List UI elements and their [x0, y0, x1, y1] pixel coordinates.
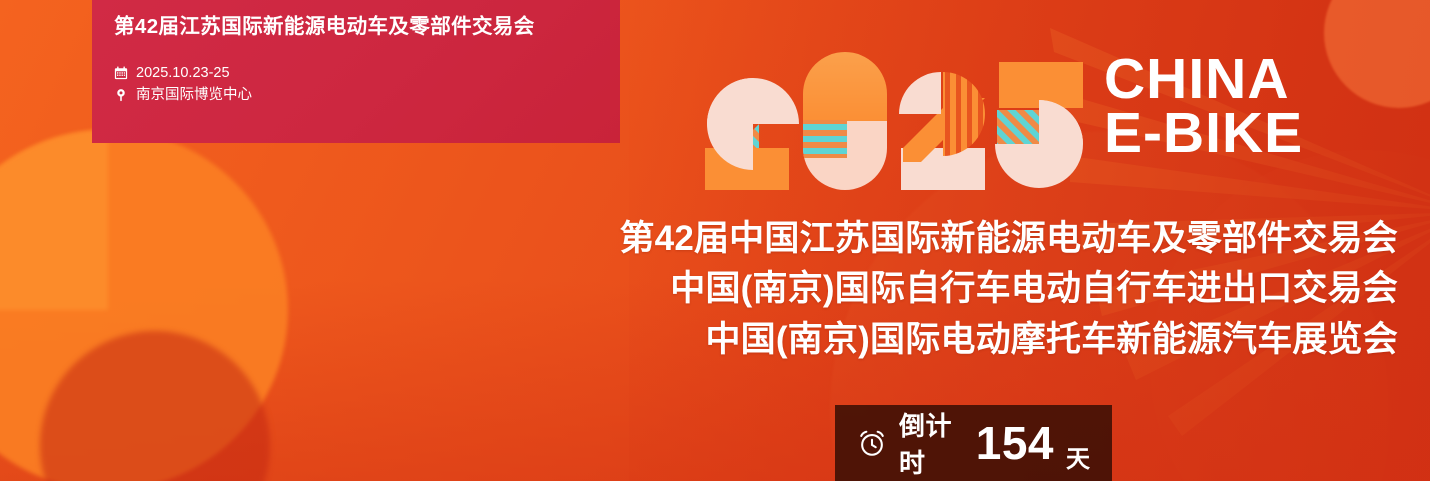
- event-card-title: 第42届江苏国际新能源电动车及零部件交易会: [114, 14, 598, 40]
- event-info-card: 第42届江苏国际新能源电动车及零部件交易会: [92, 0, 620, 143]
- countdown-badge: 倒计时 154 天: [835, 405, 1112, 481]
- headline-line-1: 第42届中国江苏国际新能源电动车及零部件交易会: [619, 214, 1398, 264]
- brand-line-1: CHINA: [1104, 52, 1303, 106]
- event-date-row: 2025.10.23-25: [114, 62, 598, 84]
- countdown-label: 倒计时: [899, 406, 964, 480]
- brand-line-2: E-BIKE: [1104, 106, 1303, 160]
- event-card-meta: 2025.10.23-25 南京国际博览中心: [114, 62, 598, 107]
- event-venue-text: 南京国际博览中心: [136, 84, 252, 106]
- logo-digit-0: [803, 52, 887, 190]
- calendar-icon: [114, 66, 128, 80]
- exhibition-banner: 第42届江苏国际新能源电动车及零部件交易会: [0, 0, 1430, 481]
- headline-line-3: 中国(南京)国际电动摩托车新能源汽车展览会: [619, 315, 1398, 365]
- countdown-unit: 天: [1066, 439, 1090, 481]
- decorative-quadrant-left: [0, 130, 108, 310]
- headline-block: 第42届中国江苏国际新能源电动车及零部件交易会 中国(南京)国际自行车电动自行车…: [619, 214, 1398, 365]
- location-pin-icon: [114, 88, 128, 102]
- event-date-text: 2025.10.23-25: [136, 62, 230, 84]
- headline-line-2: 中国(南京)国际自行车电动自行车进出口交易会: [619, 264, 1398, 314]
- brand-wordmark: CHINA E-BIKE: [1104, 52, 1303, 160]
- logo-digit-5: [995, 62, 1083, 188]
- alarm-clock-icon: [857, 428, 887, 458]
- logo-digit-2a: [705, 78, 799, 190]
- event-venue-row: 南京国际博览中心: [114, 84, 598, 106]
- countdown-days: 154: [976, 420, 1054, 466]
- year-logo-2025: [703, 52, 1083, 190]
- logo-digit-2b: [899, 72, 985, 190]
